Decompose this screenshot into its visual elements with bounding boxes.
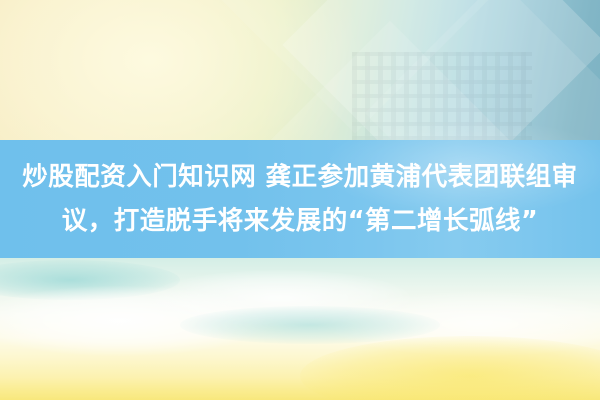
cloud-decoration <box>180 306 440 344</box>
news-banner-image: 炒股配资入门知识网 龚正参加黄浦代表团联组审 议，打造脱手将来发展的“第二增长弧… <box>0 0 600 400</box>
background-top-gradient <box>0 0 600 142</box>
headline-line-2: 议，打造脱手将来发展的“第二增长弧线” <box>62 199 539 243</box>
cloud-decoration <box>0 260 180 300</box>
headline-line-1: 炒股配资入门知识网 龚正参加黄浦代表团联组审 <box>22 155 577 199</box>
headline-band: 炒股配资入门知识网 龚正参加黄浦代表团联组审 议，打造脱手将来发展的“第二增长弧… <box>0 140 600 258</box>
cloud-decoration <box>330 292 600 356</box>
cloud-decoration <box>150 270 410 326</box>
background-bottom-gradient <box>0 258 600 400</box>
cloud-decoration <box>300 336 600 400</box>
cloud-decoration <box>0 286 270 356</box>
faint-texture-decoration <box>352 52 532 142</box>
